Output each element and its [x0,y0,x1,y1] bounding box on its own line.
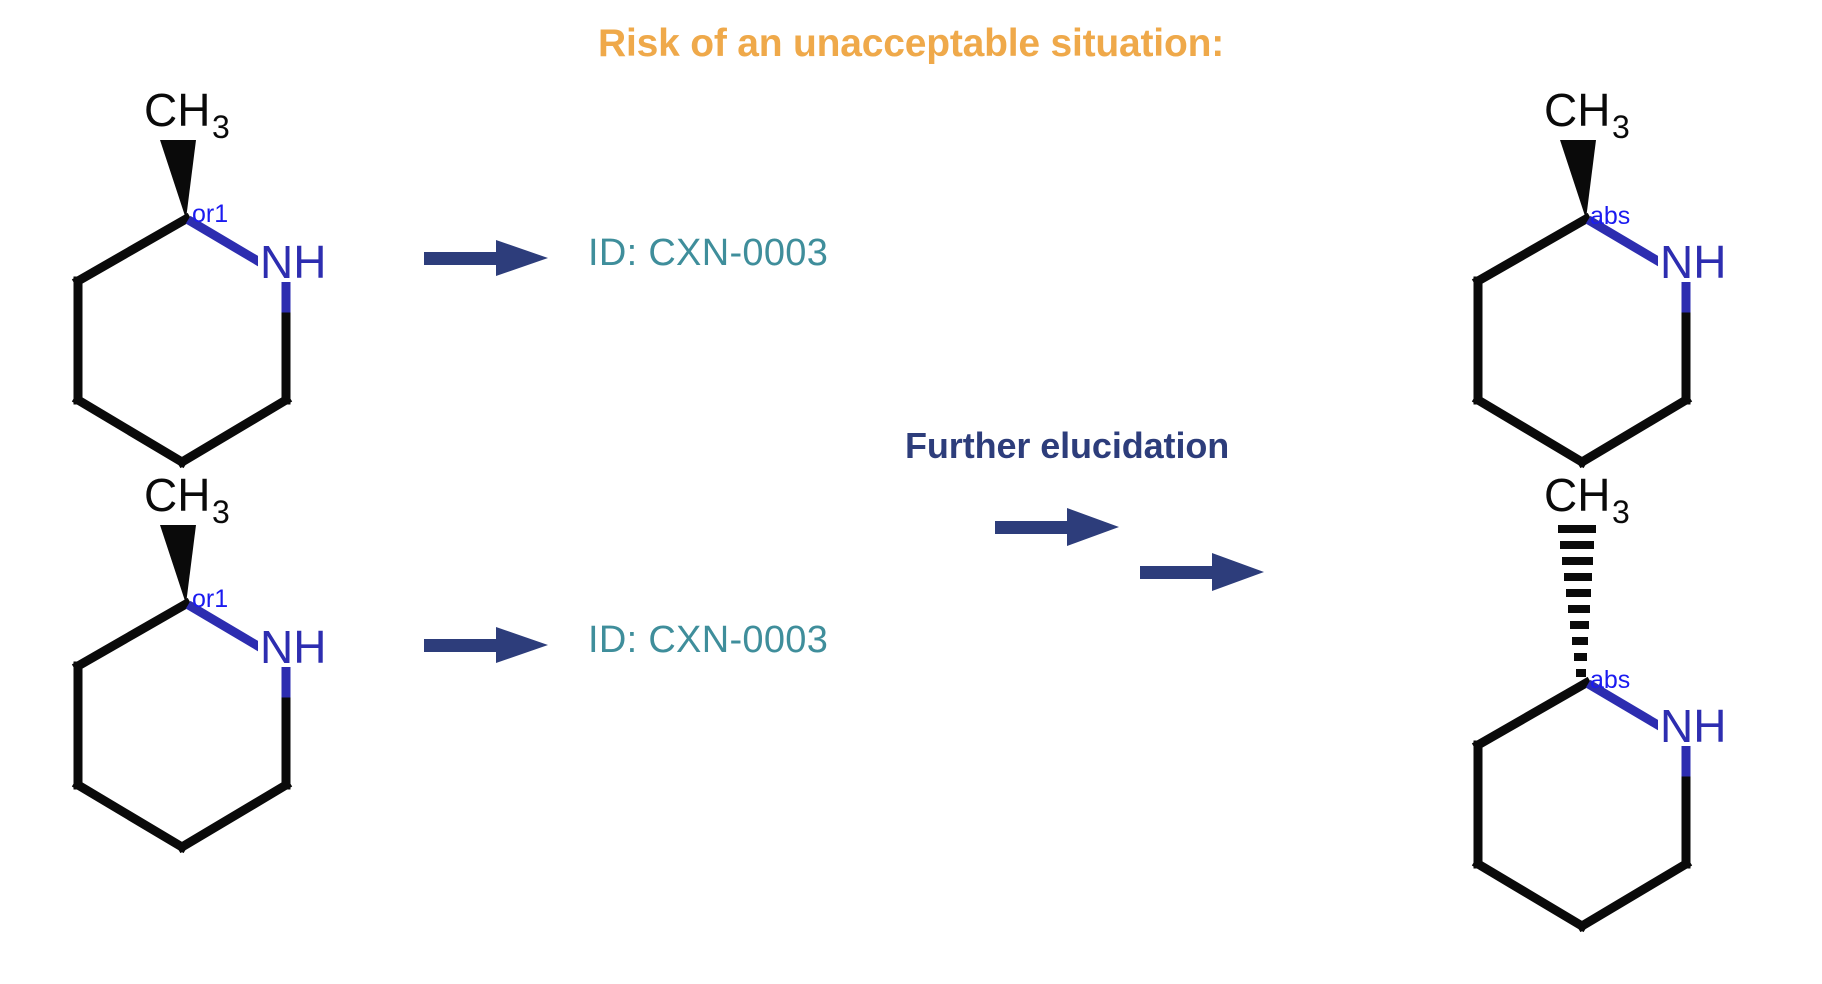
further-elucidation-label: Further elucidation [905,425,1229,467]
methyl-label-bottom-right: CH [1544,469,1610,521]
ring-bond-c4-c5-top-left [78,400,182,462]
arrow-elucidation-upper [995,505,1125,549]
wedge-bond-bottom-left [160,525,196,604]
wedge-bond-top-left [160,140,196,219]
nitrogen-label-bottom-right: NH [1660,700,1726,752]
arrow-shaft-icon [995,521,1073,534]
ring-bond-c5-c6-bottom-left [182,785,286,847]
arrow-elucidation-lower [1140,550,1270,594]
diagram-canvas: Risk of an unacceptable situation: CH 3 … [0,0,1822,984]
id-label-bottom: ID: CXN-0003 [588,619,828,662]
molecule-bottom-right: CH 3 abs N [1440,455,1740,815]
molecule-bottom-left: CH 3 or1 NH [40,455,340,815]
ring-bond-c5-c6-bottom-right [1582,864,1686,926]
stereo-label-bottom-left: or1 [192,585,228,613]
n-bond-diagonal-top-left [192,222,268,267]
methyl-subscript-bottom-left: 3 [212,494,230,530]
methyl-subscript-bottom-right: 3 [1612,494,1630,530]
n-bond-diagonal-bottom-left [192,607,268,652]
arrow-head-icon [496,240,548,276]
methyl-label-bottom-left: CH [144,469,210,521]
molecule-top-left: CH 3 or1 NH [40,70,340,430]
arrow-bottom-left-to-id [424,625,554,665]
ring-bond-c2-c3-bottom-right [1478,683,1586,745]
id-label-top: ID: CXN-0003 [588,232,828,275]
stereo-label-bottom-right: abs [1590,666,1630,694]
methyl-label-top-left: CH [144,84,210,136]
molecule-top-right: CH 3 abs NH [1440,70,1740,430]
ring-bond-c4-c5-top-right [1478,400,1582,462]
arrow-shaft-icon [424,639,502,652]
stereo-label-top-left: or1 [192,200,228,228]
stereo-label-top-right: abs [1590,202,1630,230]
arrow-head-icon [1067,508,1119,546]
hashed-wedge-bond-bottom-right [1558,525,1596,677]
arrow-head-icon [496,627,548,663]
arrow-shaft-icon [424,252,502,265]
ring-bond-c5-c6-top-left [182,400,286,462]
methyl-subscript-top-right: 3 [1612,109,1630,145]
methyl-subscript-top-left: 3 [212,109,230,145]
arrow-top-left-to-id [424,238,554,278]
ring-bond-c2-c3-top-right [1478,219,1586,281]
ring-bond-c5-c6-top-right [1582,400,1686,462]
nitrogen-label-top-left: NH [260,236,326,288]
arrow-shaft-icon [1140,566,1218,579]
nitrogen-label-bottom-left: NH [260,621,326,673]
arrow-head-icon [1212,553,1264,591]
ring-bond-c2-c3-bottom-left [78,604,186,666]
ring-bond-c2-c3-top-left [78,219,186,281]
page-title: Risk of an unacceptable situation: [0,22,1822,66]
ring-bond-c4-c5-bottom-left [78,785,182,847]
ring-bond-c4-c5-bottom-right [1478,864,1582,926]
methyl-label-top-right: CH [1544,84,1610,136]
nitrogen-label-top-right: NH [1660,236,1726,288]
